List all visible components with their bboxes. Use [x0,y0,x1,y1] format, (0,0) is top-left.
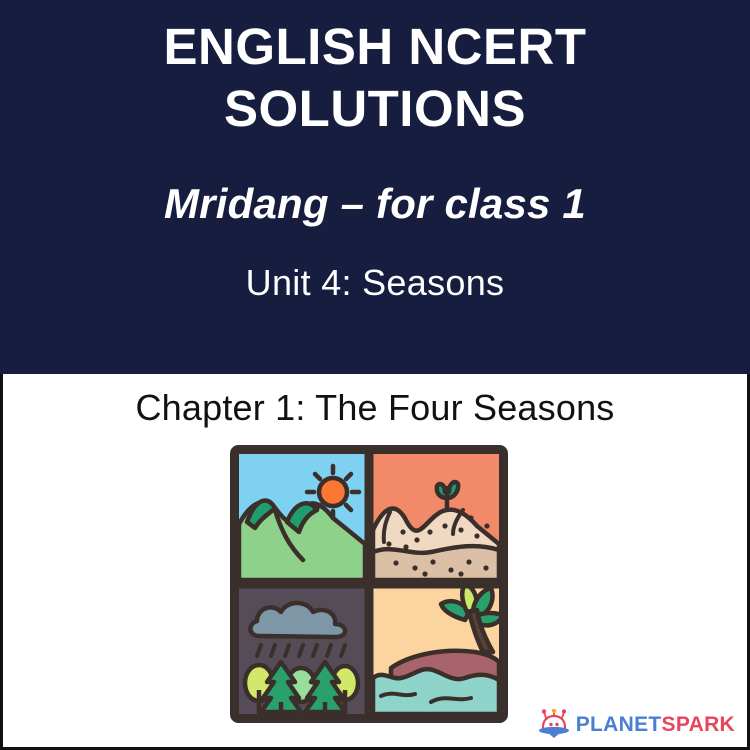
planetspark-logo: PLANETSPARK [538,709,735,739]
book-subtitle: Mridang – for class 1 [164,180,586,228]
panel-summer-desert [373,454,499,580]
page-title-line-2: SOLUTIONS [163,78,586,140]
poster-canvas: ENGLISH NCERT SOLUTIONS Mridang – for cl… [0,0,750,750]
four-seasons-illustration [225,440,531,746]
logo-spark-text: SPARK [662,713,735,736]
header-banner: ENGLISH NCERT SOLUTIONS Mridang – for cl… [0,0,750,374]
panel-spring-hills [239,454,365,580]
panel-winter-beach [373,584,503,714]
unit-label: Unit 4: Seasons [246,262,505,304]
chapter-title: Chapter 1: The Four Seasons [3,386,747,430]
panel-monsoon-rain [239,588,365,714]
content-area: Chapter 1: The Four Seasons [0,374,750,750]
logo-planet-text: PLANET [576,713,662,736]
planetspark-robot-icon [538,709,570,739]
page-title-line-1: ENGLISH NCERT [163,16,586,78]
page-title: ENGLISH NCERT SOLUTIONS [163,16,586,140]
logo-wordmark: PLANETSPARK [576,714,735,735]
